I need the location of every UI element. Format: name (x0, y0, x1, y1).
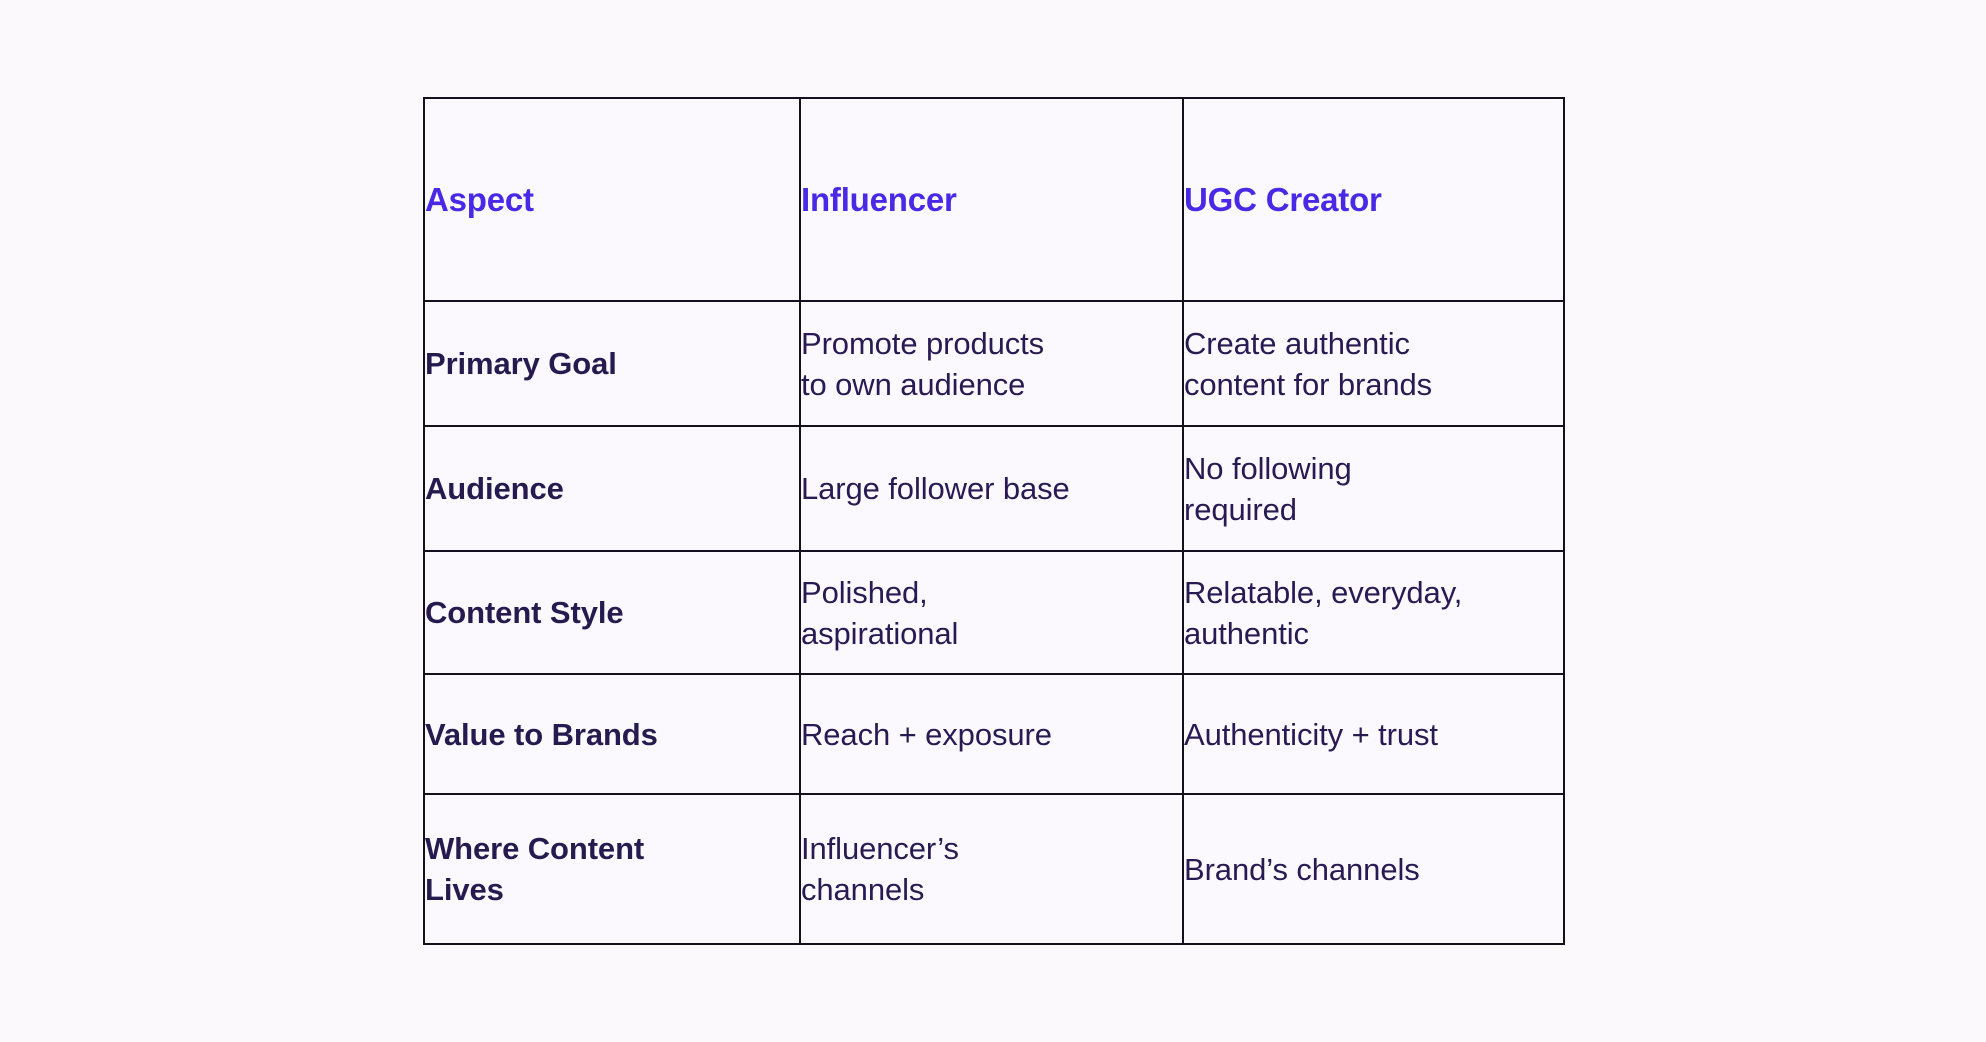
cell-aspect-where-content-lives: Where Content Lives (424, 794, 800, 944)
cell-ugc-creator-content-style: Relatable, everyday, authentic (1183, 551, 1564, 674)
text-line: Create authentic (1184, 323, 1563, 364)
text-line: aspirational (801, 613, 1182, 654)
cell-influencer-where-content-lives: Influencer’s channels (800, 794, 1183, 944)
text-line: Reach + exposure (801, 714, 1182, 755)
table-header: Aspect Influencer UGC Creator (424, 98, 1564, 301)
text-line: channels (801, 869, 1182, 910)
text-line: Where Content (425, 828, 799, 869)
cell-aspect-primary-goal: Primary Goal (424, 301, 800, 426)
cell-ugc-creator-primary-goal: Create authentic content for brands (1183, 301, 1564, 426)
text-line: Audience (425, 468, 799, 509)
text-line: Lives (425, 869, 799, 910)
text-line: Brand’s channels (1184, 849, 1563, 890)
text-line: required (1184, 489, 1563, 530)
table-body: Primary Goal Promote products to own aud… (424, 301, 1564, 944)
cell-influencer-primary-goal: Promote products to own audience (800, 301, 1183, 426)
cell-ugc-creator-value-to-brands: Authenticity + trust (1183, 674, 1564, 794)
text-line: Influencer’s (801, 828, 1182, 869)
text-line: authentic (1184, 613, 1563, 654)
influencer-vs-ugc-comparison-table: Aspect Influencer UGC Creator Primary Go… (423, 97, 1565, 945)
cell-ugc-creator-where-content-lives: Brand’s channels (1183, 794, 1564, 944)
table-row: Audience Large follower base No followin… (424, 426, 1564, 551)
page-canvas: Aspect Influencer UGC Creator Primary Go… (0, 0, 1986, 1042)
cell-ugc-creator-audience: No following required (1183, 426, 1564, 551)
text-line: Authenticity + trust (1184, 714, 1563, 755)
text-line: Large follower base (801, 468, 1182, 509)
text-line: to own audience (801, 364, 1182, 405)
column-header-ugc-creator: UGC Creator (1183, 98, 1564, 301)
table-row: Value to Brands Reach + exposure Authent… (424, 674, 1564, 794)
text-line: No following (1184, 448, 1563, 489)
text-line: Primary Goal (425, 343, 799, 384)
text-line: Promote products (801, 323, 1182, 364)
cell-influencer-audience: Large follower base (800, 426, 1183, 551)
cell-aspect-value-to-brands: Value to Brands (424, 674, 800, 794)
text-line: Content Style (425, 592, 799, 633)
text-line: content for brands (1184, 364, 1563, 405)
column-header-aspect: Aspect (424, 98, 800, 301)
table-header-row: Aspect Influencer UGC Creator (424, 98, 1564, 301)
text-line: Polished, (801, 572, 1182, 613)
cell-aspect-audience: Audience (424, 426, 800, 551)
table-row: Content Style Polished, aspirational Rel… (424, 551, 1564, 674)
cell-influencer-content-style: Polished, aspirational (800, 551, 1183, 674)
cell-aspect-content-style: Content Style (424, 551, 800, 674)
text-line: Relatable, everyday, (1184, 572, 1563, 613)
table-row: Where Content Lives Influencer’s channel… (424, 794, 1564, 944)
text-line: Value to Brands (425, 714, 799, 755)
table-row: Primary Goal Promote products to own aud… (424, 301, 1564, 426)
column-header-influencer: Influencer (800, 98, 1183, 301)
cell-influencer-value-to-brands: Reach + exposure (800, 674, 1183, 794)
